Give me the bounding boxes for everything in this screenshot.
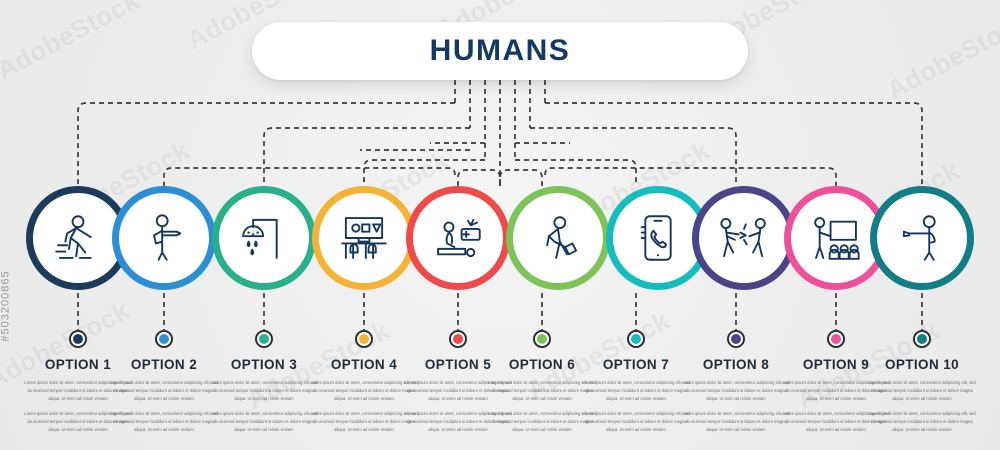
teacher-classroom-icon (807, 209, 865, 267)
dot-fill (359, 334, 369, 344)
person-aiming-icon (893, 209, 951, 267)
page-title: HUMANS (430, 34, 571, 68)
dot-fill (73, 334, 83, 344)
cpr-ambulance-icon (429, 209, 487, 267)
dot-fill (917, 334, 927, 344)
dot-marker (449, 330, 467, 348)
walking-person-icon (49, 209, 107, 267)
dot-marker (627, 330, 645, 348)
dot-marker (533, 330, 551, 348)
header-title-pill: HUMANS (252, 22, 748, 80)
option-column: OPTION 10 Lorem ipsum dolor sit amet, co… (863, 330, 981, 441)
node-circle-6[interactable] (506, 186, 610, 290)
dot-fill (453, 334, 463, 344)
option-paragraph: Lorem ipsum dolor sit amet, consectetur … (863, 379, 981, 403)
node-circle-2[interactable] (112, 186, 216, 290)
dot-marker (827, 330, 845, 348)
person-sweeping-icon (529, 209, 587, 267)
dot-fill (537, 334, 547, 344)
infographic-canvas: AdobeStock AdobeStock AdobeStock AdobeSt… (0, 0, 1000, 450)
dot-marker (913, 330, 931, 348)
dot-fill (831, 334, 841, 344)
dot-marker (727, 330, 745, 348)
option-label: OPTION 10 (863, 357, 981, 372)
node-circle-4[interactable] (312, 186, 416, 290)
dot-fill (631, 334, 641, 344)
icon-circle-row (0, 186, 1000, 290)
shower-icon (235, 209, 293, 267)
dot-marker (69, 330, 87, 348)
person-pointing-icon (135, 209, 193, 267)
dot-marker (155, 330, 173, 348)
classroom-icon (335, 209, 393, 267)
phone-call-icon (629, 209, 687, 267)
option-paragraph: Lorem ipsum dolor sit amet, consectetur … (863, 410, 981, 434)
node-circle-5[interactable] (406, 186, 510, 290)
node-circle-8[interactable] (692, 186, 796, 290)
node-circle-3[interactable] (212, 186, 316, 290)
node-circle-10[interactable] (870, 186, 974, 290)
dot-marker (355, 330, 373, 348)
dot-marker (255, 330, 273, 348)
dot-fill (259, 334, 269, 344)
dot-fill (159, 334, 169, 344)
fighting-people-icon (715, 209, 773, 267)
dot-fill (731, 334, 741, 344)
